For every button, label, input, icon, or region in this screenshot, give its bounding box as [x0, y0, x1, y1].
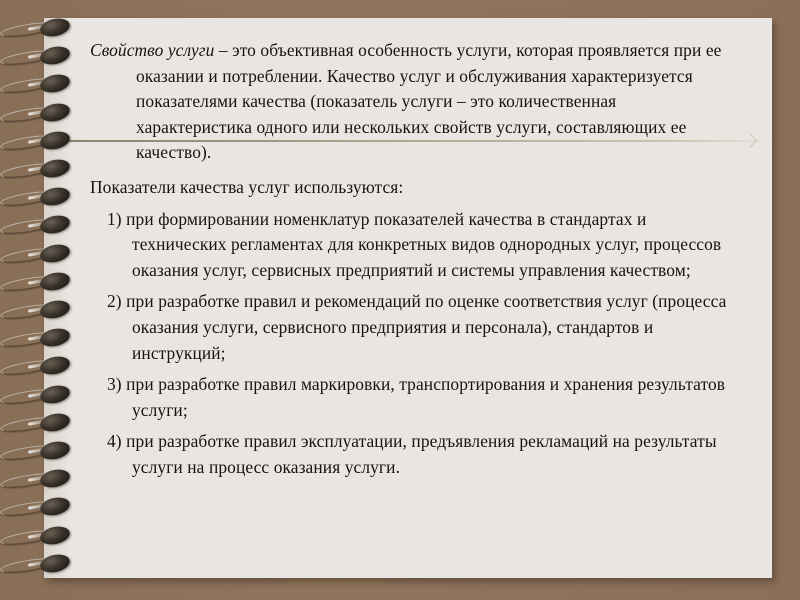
list-item: 3) при разработке правил маркировки, тра…	[90, 372, 730, 423]
list-item: 1) при формировании номенклатур показате…	[90, 207, 730, 284]
rule-arrow-icon	[742, 133, 758, 149]
definition-rest: – это объективная особенность услуги, ко…	[136, 40, 721, 162]
slide-text-body: Свойство услуги – это объективная особен…	[90, 38, 730, 481]
list-item: 4) при разработке правил эксплуатации, п…	[90, 429, 730, 480]
definition-paragraph: Свойство услуги – это объективная особен…	[90, 38, 730, 166]
list-item: 2) при разработке правил и рекомендаций …	[90, 289, 730, 366]
lead-in-paragraph: Показатели качества услуг используются:	[90, 175, 730, 201]
definition-term: Свойство услуги	[90, 40, 214, 60]
presentation-slide: Свойство услуги – это объективная особен…	[0, 0, 800, 600]
spacer	[90, 166, 730, 175]
notebook-page: Свойство услуги – это объективная особен…	[44, 18, 772, 578]
